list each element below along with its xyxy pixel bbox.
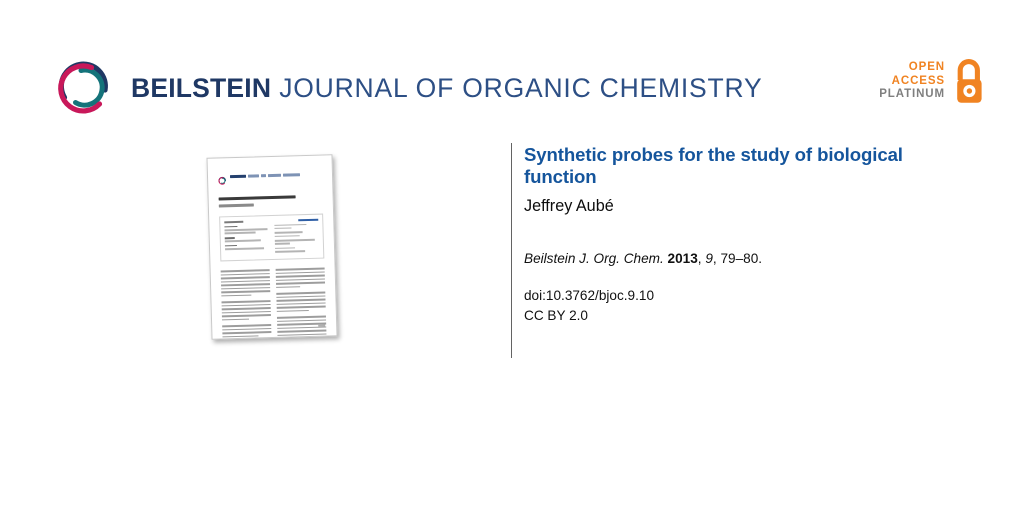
thumbnail-info-right	[274, 218, 319, 254]
beilstein-swirl-logo-icon	[55, 57, 117, 119]
vertical-divider	[511, 143, 512, 358]
journal-brand[interactable]: BEILSTEIN JOURNAL OF ORGANIC CHEMISTRY	[55, 57, 762, 119]
page-masthead: BEILSTEIN JOURNAL OF ORGANIC CHEMISTRY O…	[0, 0, 1024, 140]
thumbnail-column-right	[276, 268, 327, 340]
open-padlock-icon	[952, 58, 984, 105]
wordmark-light-text: JOURNAL OF ORGANIC CHEMISTRY	[279, 75, 762, 102]
open-access-line-open: OPEN	[879, 61, 945, 74]
thumbnail-mini-masthead	[218, 170, 322, 182]
open-access-line-platinum: PLATINUM	[879, 88, 945, 101]
open-access-badge: OPEN ACCESS PLATINUM	[879, 58, 984, 105]
thumbnail-title-line	[219, 195, 296, 201]
thumbnail-wordmark	[230, 173, 300, 178]
article-author[interactable]: Jeffrey Aubé	[524, 196, 976, 216]
article-license[interactable]: CC BY 2.0	[524, 306, 976, 326]
thumbnail-author-line	[219, 204, 254, 207]
article-doi[interactable]: doi:10.3762/bjoc.9.10	[524, 286, 976, 306]
thumbnail-column-left	[221, 269, 272, 339]
citation-journal: Beilstein J. Org. Chem.	[524, 251, 664, 266]
wordmark-bold-text: BEILSTEIN	[131, 75, 271, 102]
article-citation: Beilstein J. Org. Chem. 2013, 9, 79–80.	[524, 250, 976, 268]
open-access-line-access: ACCESS	[879, 75, 945, 88]
thumbnail-title-block	[219, 195, 323, 207]
citation-pages: 79–80.	[720, 251, 762, 266]
thumbnail-info-left	[224, 220, 269, 256]
article-metadata: Synthetic probes for the study of biolog…	[524, 144, 976, 325]
thumbnail-logo-icon	[218, 172, 227, 181]
open-access-label: OPEN ACCESS PLATINUM	[879, 61, 945, 101]
thumbnail-body-columns	[221, 268, 327, 340]
thumbnail-page-sheet	[206, 154, 337, 339]
thumbnail-info-box	[219, 213, 324, 262]
thumbnail-page-number	[318, 325, 325, 327]
journal-wordmark: BEILSTEIN JOURNAL OF ORGANIC CHEMISTRY	[131, 75, 762, 102]
article-title[interactable]: Synthetic probes for the study of biolog…	[524, 144, 976, 187]
article-first-page-thumbnail[interactable]	[209, 156, 335, 338]
citation-year: 2013	[668, 251, 698, 266]
citation-volume: 9	[705, 251, 713, 266]
